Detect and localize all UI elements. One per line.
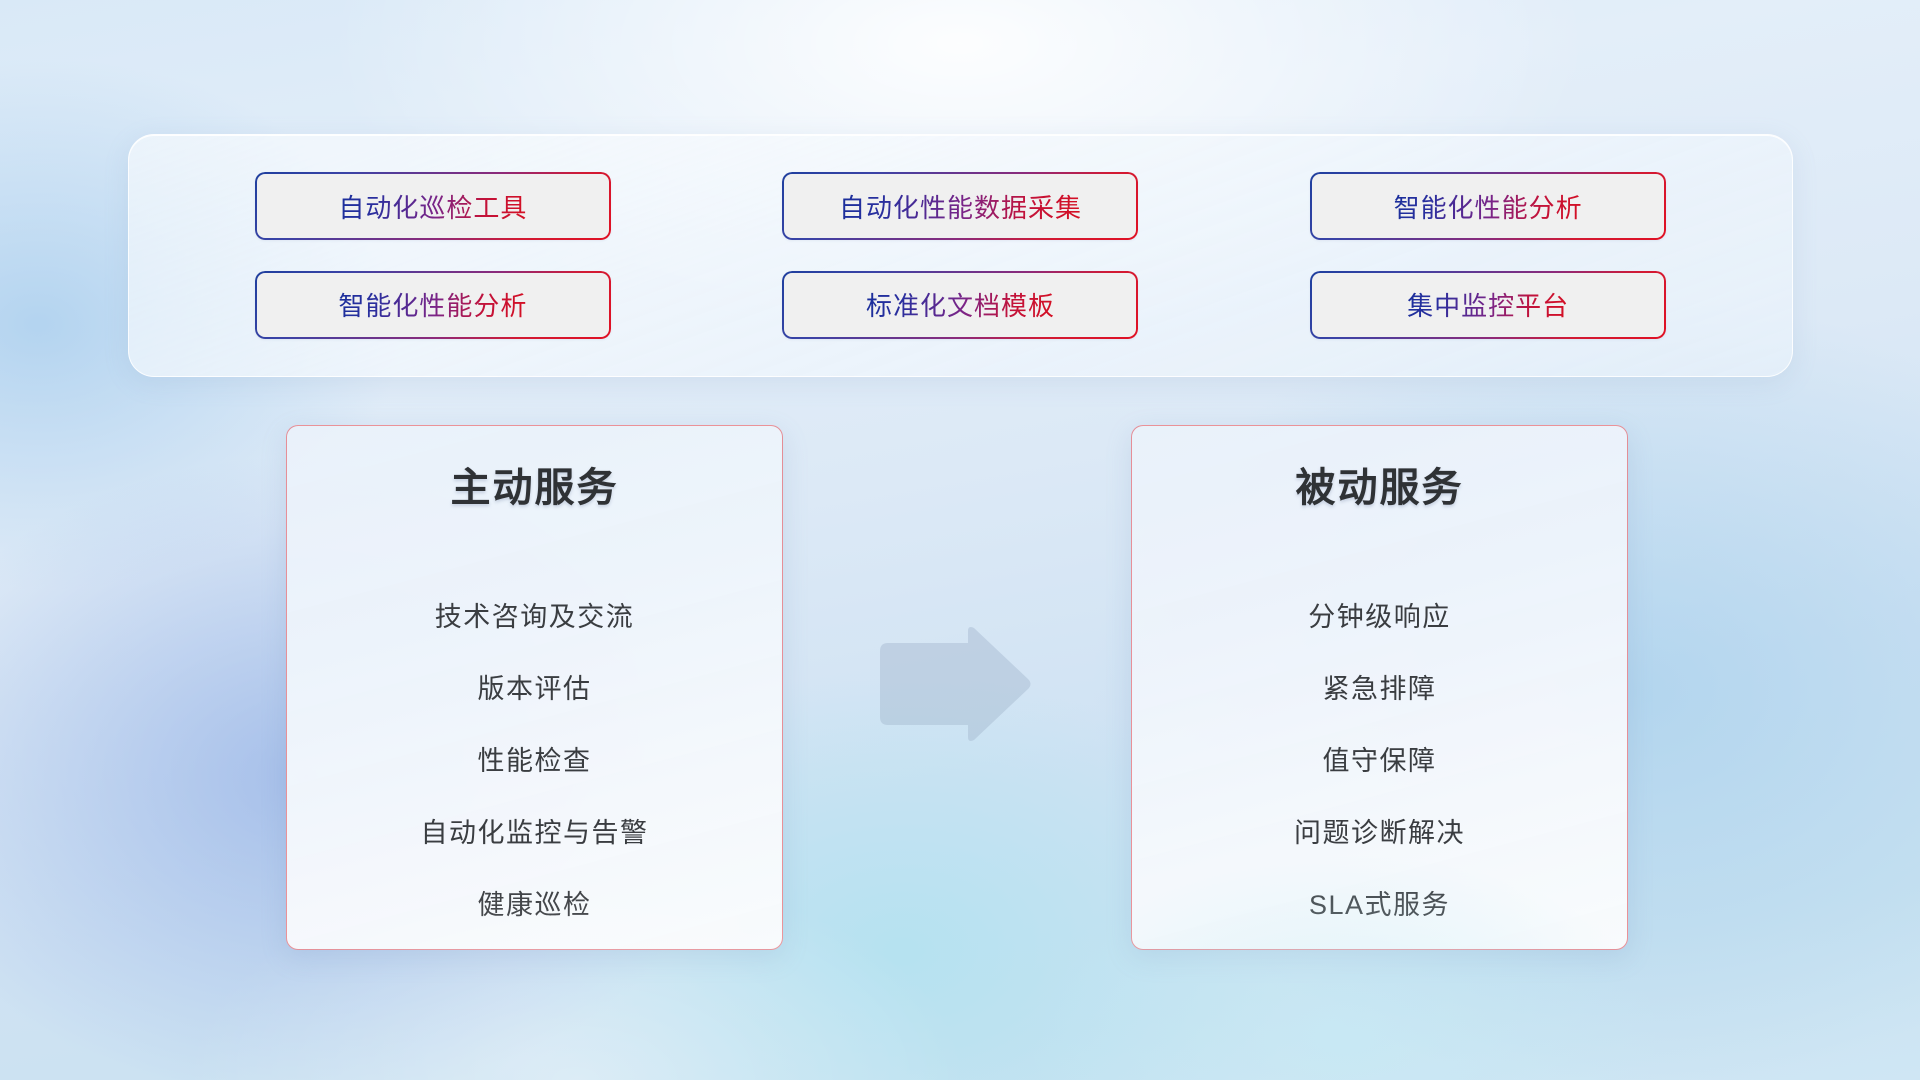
arrow-right-icon	[872, 625, 1032, 743]
capability-pill-centralized-monitoring-platform[interactable]: 集中监控平台	[1310, 271, 1666, 339]
list-item[interactable]: 自动化监控与告警	[421, 797, 649, 869]
capability-pill-intelligent-performance-analysis-2[interactable]: 智能化性能分析	[255, 271, 611, 339]
capability-pill-label: 集中监控平台	[1407, 286, 1569, 323]
list-item[interactable]: 版本评估	[478, 653, 592, 725]
card-item-list: 分钟级响应 紧急排障 值守保障 问题诊断解决 SLA式服务	[1162, 581, 1597, 941]
capability-pill-label: 自动化性能数据采集	[839, 188, 1082, 225]
capability-pill-label: 标准化文档模板	[866, 286, 1055, 323]
capability-pill-automated-performance-collection[interactable]: 自动化性能数据采集	[782, 172, 1138, 240]
slide-canvas: 自动化巡检工具 自动化性能数据采集 智能化性能分析 智能化性能分析 标准化文档模…	[0, 0, 1920, 1080]
card-title: 被动服务	[1296, 468, 1464, 508]
capability-pill-automated-inspection-tool[interactable]: 自动化巡检工具	[255, 172, 611, 240]
list-item[interactable]: 问题诊断解决	[1294, 797, 1465, 869]
capability-panel: 自动化巡检工具 自动化性能数据采集 智能化性能分析 智能化性能分析 标准化文档模…	[128, 134, 1793, 377]
capability-pill-label: 智能化性能分析	[1394, 188, 1583, 225]
list-item[interactable]: 紧急排障	[1323, 653, 1437, 725]
card-title: 主动服务	[451, 468, 619, 508]
list-item[interactable]: 健康巡检	[478, 869, 592, 941]
capability-pill-intelligent-performance-analysis[interactable]: 智能化性能分析	[1310, 172, 1666, 240]
list-item[interactable]: 技术咨询及交流	[435, 581, 635, 653]
list-item[interactable]: 分钟级响应	[1308, 581, 1451, 653]
service-card-passive[interactable]: 被动服务 分钟级响应 紧急排障 值守保障 问题诊断解决 SLA式服务	[1131, 425, 1628, 950]
capability-pill-standardized-doc-template[interactable]: 标准化文档模板	[782, 271, 1138, 339]
capability-pill-label: 智能化性能分析	[338, 286, 527, 323]
capability-pill-label: 自动化巡检工具	[338, 188, 527, 225]
list-item[interactable]: 值守保障	[1323, 725, 1437, 797]
card-item-list: 技术咨询及交流 版本评估 性能检查 自动化监控与告警 健康巡检	[317, 581, 752, 941]
service-card-active[interactable]: 主动服务 技术咨询及交流 版本评估 性能检查 自动化监控与告警 健康巡检	[286, 425, 783, 950]
list-item[interactable]: SLA式服务	[1309, 869, 1450, 941]
list-item[interactable]: 性能检查	[478, 725, 592, 797]
